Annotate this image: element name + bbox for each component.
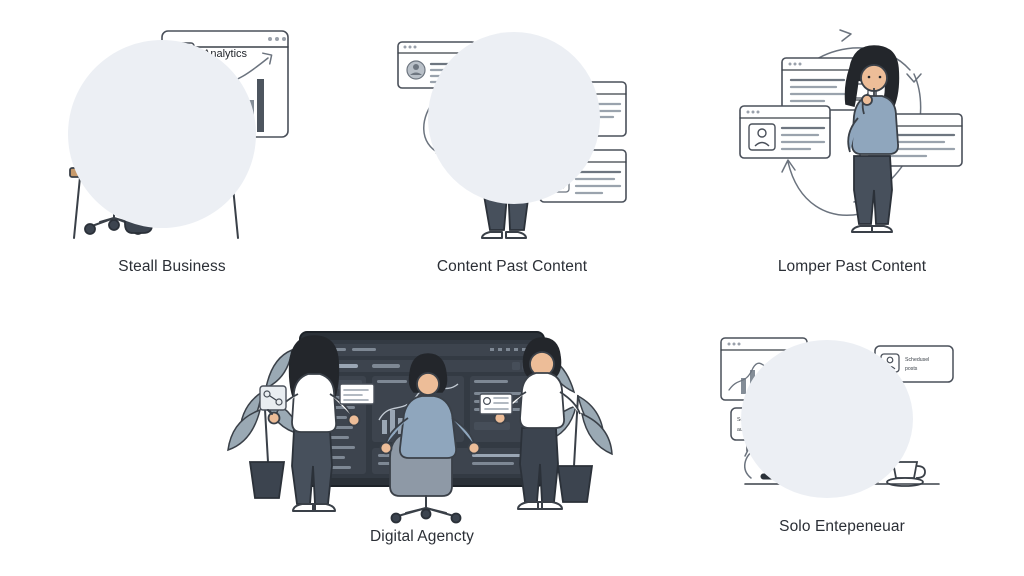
illustration-lomper-past-content bbox=[732, 22, 972, 254]
card-content-past-content: Content Past Content bbox=[392, 22, 632, 276]
card-caption: Content Past Content bbox=[437, 258, 587, 276]
card-lomper-past-content: Lomper Past Content bbox=[732, 22, 972, 276]
illustration-digital-agencty bbox=[222, 322, 622, 522]
backdrop-disc bbox=[741, 340, 913, 498]
card-caption: Digital Agencty bbox=[370, 528, 474, 546]
browser-window-left bbox=[740, 106, 830, 158]
card-digital-agencty: Digital Agencty bbox=[222, 322, 622, 546]
card-caption: Lomper Past Content bbox=[778, 258, 926, 276]
svg-text:Schedusel: Schedusel bbox=[905, 357, 929, 363]
card-solo-entepeneuar: Schedusel posts Schedlied automatially bbox=[717, 332, 967, 536]
svg-text:posts: posts bbox=[905, 366, 918, 372]
card-caption: Solo Entepeneuar bbox=[779, 518, 905, 536]
illustration-steall-business: Analytics Sheod bbox=[52, 22, 292, 254]
illustration-content-past-content bbox=[392, 22, 632, 254]
backdrop-disc bbox=[68, 40, 256, 228]
card-steall-business: Analytics Sheod bbox=[52, 22, 292, 276]
illustration-board: Analytics Sheod bbox=[0, 0, 1024, 576]
illustration-solo-entepeneuar: Schedusel posts Schedlied automatially bbox=[717, 332, 967, 514]
card-caption: Steall Business bbox=[118, 258, 225, 276]
backdrop-disc bbox=[428, 32, 600, 204]
person-woman bbox=[846, 46, 899, 232]
